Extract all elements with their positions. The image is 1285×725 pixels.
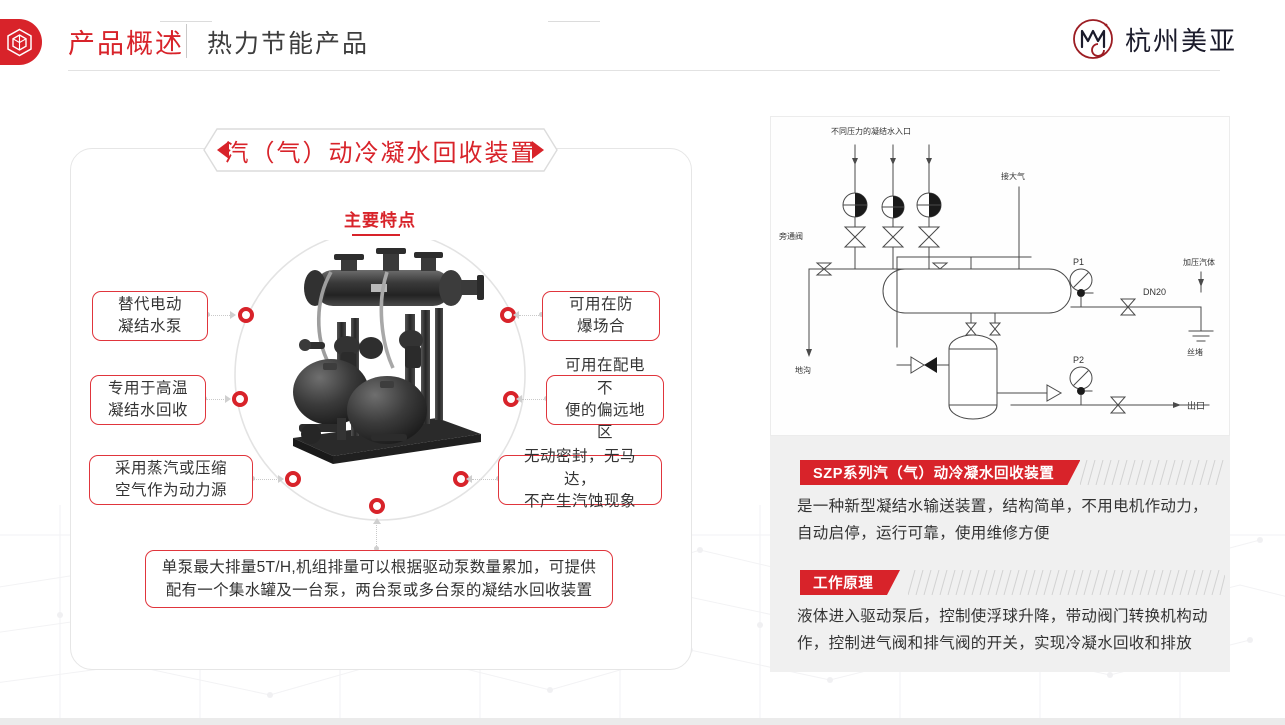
features-subtitle-underline [352,234,400,236]
leader-arrow-7 [513,311,519,319]
header-badge [0,19,42,65]
label-outlet: 出口 [1187,400,1205,411]
info-tag-2-hatching [908,570,1225,595]
feature-box-5[interactable]: 可用在配电不 便的偏远地区 [546,375,664,425]
feature-box-3-line2: 空气作为动力源 [115,480,227,502]
leader-line-6 [522,399,546,401]
feature-box-3-line1: 采用蒸汽或压缩 [115,458,227,480]
leader-line-2 [206,399,226,401]
page-subtitle: 热力节能产品 [207,24,369,60]
leader-line-3 [253,479,279,481]
section-banner: 汽（气）动冷凝水回收装置 [203,128,558,172]
info-body-1-line2: 自动启停，运行可靠，使用维修方便 [797,520,1217,547]
label-to-atmosphere: 接大气 [1001,171,1025,181]
feature-box-1[interactable]: 替代电动 凝结水泵 [92,291,208,341]
feature-marker-2 [232,391,248,407]
feature-box-6-line1: 无动密封，无马达， [511,446,649,491]
leader-line-7 [519,315,541,317]
feature-box-4[interactable]: 可用在防 爆场合 [542,291,660,341]
header-rule [68,70,1220,71]
label-pressurized-gas: 加压汽体 [1183,257,1215,267]
leader-arrow-6 [516,395,522,403]
info-body-2-line2: 作，控制进气阀和排气阀的开关，实现冷凝水回收和排放 [797,630,1217,657]
feature-box-4-line2: 爆场合 [577,316,625,338]
brand-logo: 杭州美亚 [1070,16,1237,62]
feature-box-3[interactable]: 采用蒸汽或压缩 空气作为动力源 [89,455,253,505]
meiya-m-logo-icon [1070,16,1116,62]
label-plug: 丝堵 [1187,347,1203,357]
feature-box-4-line1: 可用在防 [569,294,633,316]
info-tag-2: 工作原理 [800,570,900,595]
brand-name: 杭州美亚 [1125,21,1237,58]
label-bypass-valve: 旁通阀 [779,231,803,241]
info-body-1: 是一种新型凝结水输送装置，结构简单，不用电机作动力， 自动启停，运行可靠，使用维… [797,493,1217,547]
feature-box-1-line2: 凝结水泵 [118,316,182,338]
feature-box-1-line1: 替代电动 [118,294,182,316]
feature-box-bottom-line2: 配有一个集水罐及一台泵，两台泵或多台泵的凝结水回收装置 [166,579,593,602]
flow-diagram-svg: 不同压力的凝结水入口 [771,117,1229,435]
header-divider [186,24,187,58]
feature-box-2[interactable]: 专用于高温 凝结水回收 [90,375,206,425]
label-dn20: DN20 [1143,287,1166,297]
feature-box-5-line2: 便的偏远地区 [559,400,651,445]
banner-wing-left [160,21,212,22]
info-body-1-line1: 是一种新型凝结水输送装置，结构简单，不用电机作动力， [797,493,1217,520]
info-tag-1: SZP系列汽（气）动冷凝水回收装置 [800,460,1080,485]
banner-title: 汽（气）动冷凝水回收装置 [225,133,537,168]
label-p1: P1 [1073,257,1084,267]
features-subtitle: 主要特点 [0,206,760,231]
feature-marker-3 [285,471,301,487]
feature-box-6-line2: 不产生汽蚀现象 [524,491,636,513]
page-header: 产品概述 热力节能产品 杭州美亚 [0,0,1285,84]
leader-line-5 [472,479,498,481]
banner-wing-right [548,21,600,22]
leader-line-1 [208,315,230,317]
product-photo [285,242,495,492]
feature-box-6[interactable]: 无动密封，无马达， 不产生汽蚀现象 [498,455,662,505]
slide-page: 产品概述 热力节能产品 杭州美亚 汽（气）动冷凝水回收装置 主要特点 [0,0,1285,725]
feature-box-2-line1: 专用于高温 [108,378,188,400]
leader-arrow-1 [230,311,236,319]
leader-arrow-5 [466,475,472,483]
leader-arrow-2 [225,395,231,403]
leader-arrow-bottom [373,518,381,524]
label-p2: P2 [1073,355,1084,365]
label-trench: 地沟 [795,365,811,375]
leader-line-bottom [376,520,378,548]
leader-arrow-3 [278,475,284,483]
label-inlet: 不同压力的凝结水入口 [831,126,911,136]
feature-box-bottom-line1: 单泵最大排量5T/H,机组排量可以根据驱动泵数量累加，可提供 [162,556,596,579]
feature-box-5-line1: 可用在配电不 [559,355,651,400]
feature-marker-4 [369,498,385,514]
bottom-strip [0,718,1285,725]
feature-box-bottom[interactable]: 单泵最大排量5T/H,机组排量可以根据驱动泵数量累加，可提供 配有一个集水罐及一… [145,550,613,608]
info-body-2: 液体进入驱动泵后，控制使浮球升降，带动阀门转换机构动 作，控制进气阀和排气阀的开… [797,603,1217,657]
feature-marker-1 [238,307,254,323]
info-tag-1-hatching [1080,460,1225,485]
feature-box-2-line2: 凝结水回收 [108,400,188,422]
flow-diagram: 不同压力的凝结水入口 [770,116,1230,436]
cube-hexagon-icon [6,28,33,57]
page-title: 产品概述 [68,22,184,61]
info-body-2-line1: 液体进入驱动泵后，控制使浮球升降，带动阀门转换机构动 [797,603,1217,630]
